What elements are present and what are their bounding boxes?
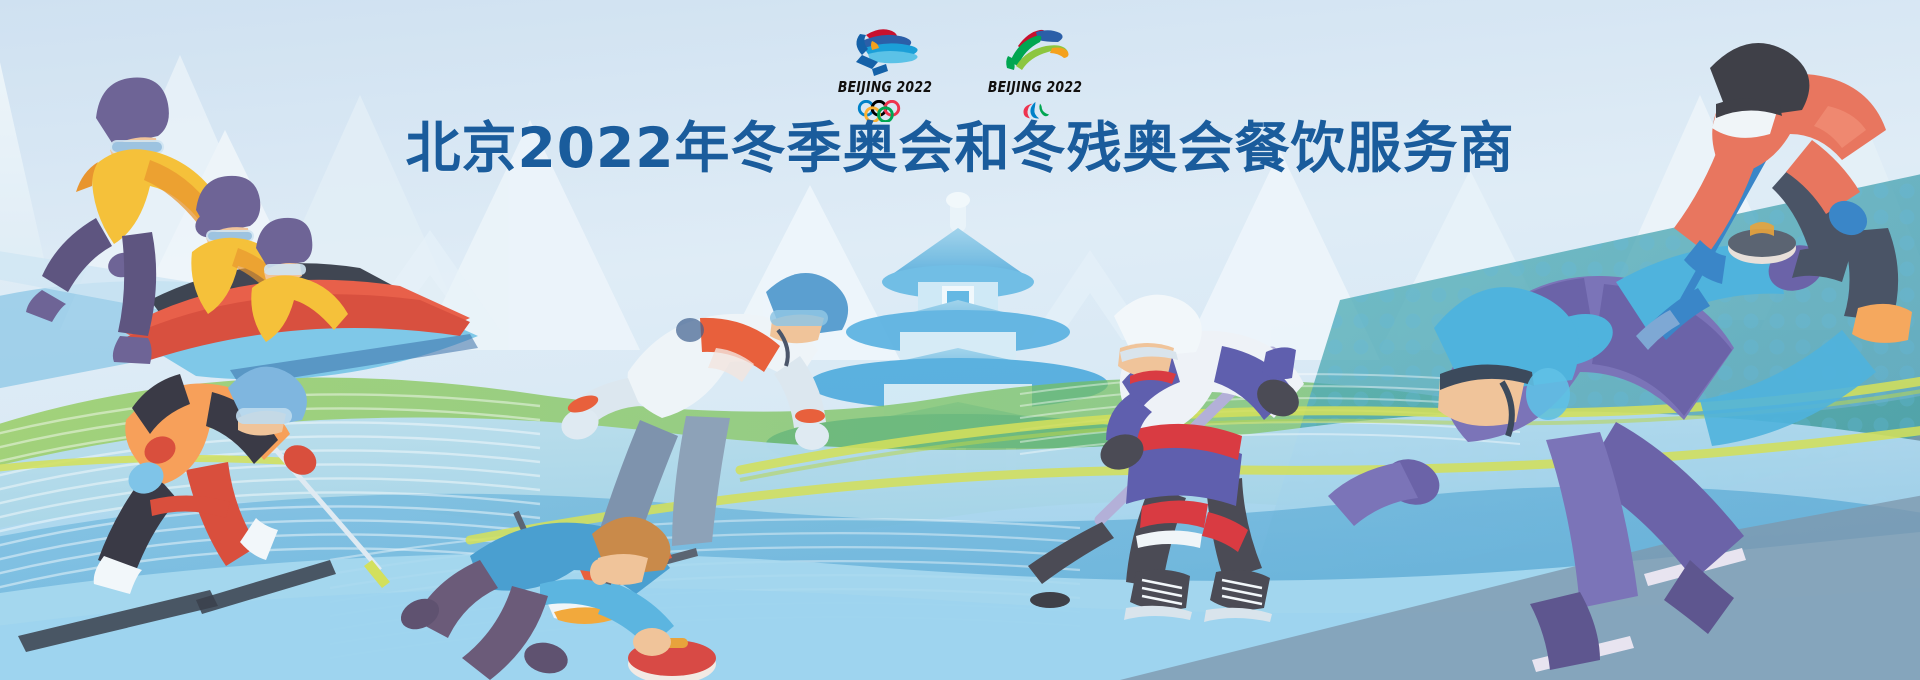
emblem-row: BEIJING 2022 xyxy=(0,22,1920,122)
paralympic-wordmark: BEIJING 2022 xyxy=(988,78,1082,96)
curler-delivering-stone xyxy=(396,512,716,680)
speed-skater-purple xyxy=(1328,238,1876,672)
olympic-banner: BEIJING 2022 xyxy=(0,0,1920,680)
page-title: 北京2022年冬季奥会和冬残奥会餐饮服务商 xyxy=(0,120,1920,178)
ice-hockey-player xyxy=(1028,295,1306,622)
beijing-2022-olympic-emblem: BEIJING 2022 xyxy=(833,22,937,122)
cross-country-skier xyxy=(18,367,390,652)
flying-high-ribbon-mark xyxy=(992,22,1078,76)
beijing-2022-paralympic-emblem: BEIJING 2022 xyxy=(983,22,1087,122)
olympic-wordmark: BEIJING 2022 xyxy=(838,78,932,96)
winter-dream-ribbon-mark xyxy=(842,22,928,76)
